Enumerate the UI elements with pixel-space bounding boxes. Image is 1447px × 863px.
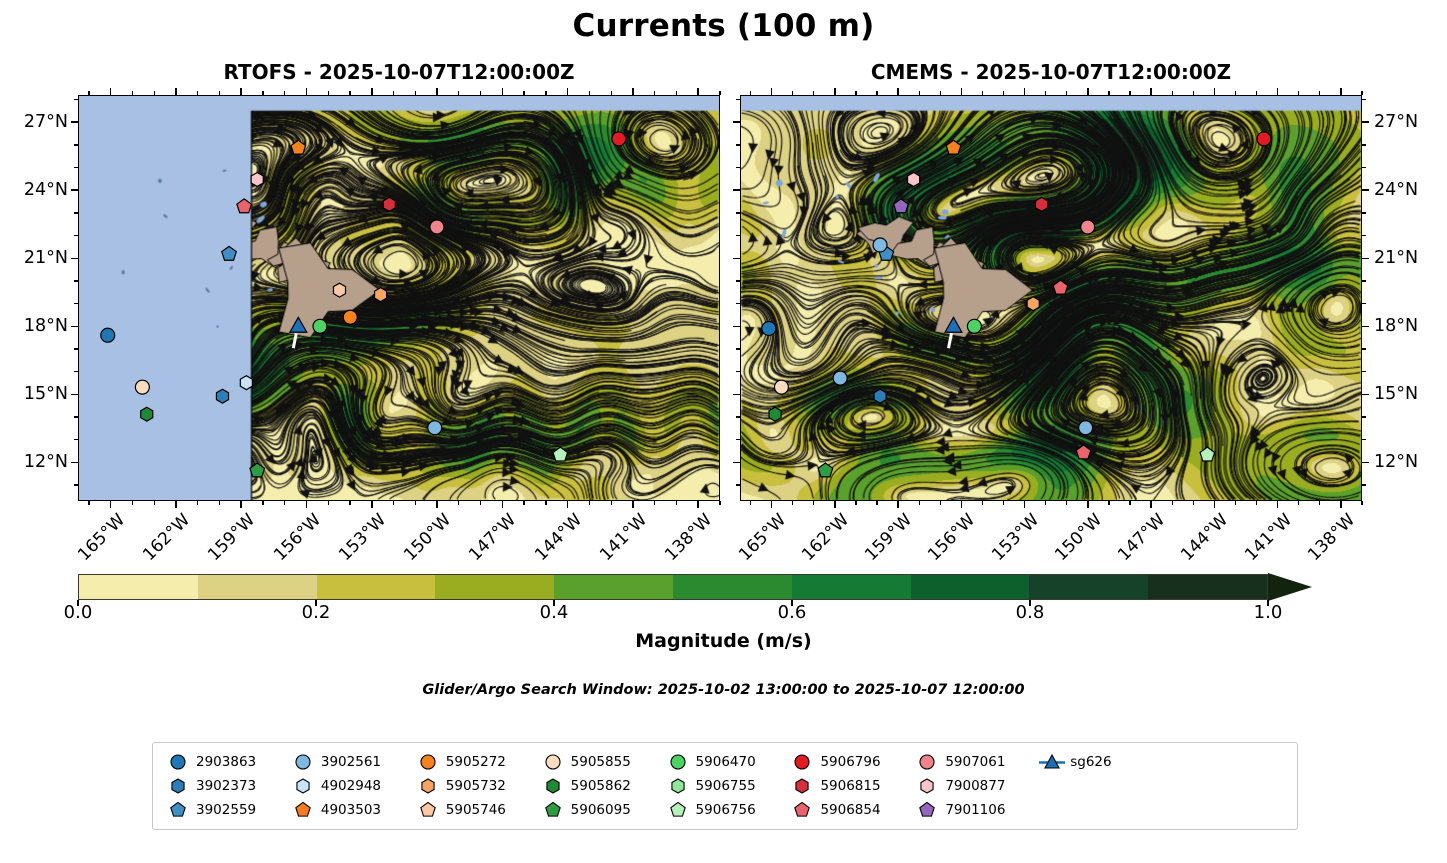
float-marker-3902559[interactable]	[222, 246, 237, 260]
legend-marker-hexagon-icon	[916, 777, 938, 795]
xtick-top-left-141	[632, 88, 634, 95]
panel-title-rtofs: RTOFS - 2025-10-07T12:00:00Z	[78, 60, 720, 84]
map-panel-cmems[interactable]	[740, 95, 1362, 501]
legend-item-5906095[interactable]: 5906095	[540, 800, 663, 820]
legend-item-5906756[interactable]: 5906756	[665, 800, 788, 820]
float-marker-7900877[interactable]	[908, 173, 920, 187]
float-marker-5906470[interactable]	[967, 319, 981, 333]
xtick-right-158	[919, 501, 920, 505]
xtick-left-162	[175, 501, 177, 508]
xtick-top-right-154	[1003, 91, 1004, 95]
xtick-top-left-165	[110, 88, 112, 95]
ytick-right-22	[736, 235, 740, 236]
xtick-top-left-153	[371, 88, 373, 95]
float-marker-5906796[interactable]	[1257, 132, 1271, 146]
xtick-right-166	[750, 501, 751, 505]
float-marker-sg626[interactable]	[290, 317, 307, 348]
float-marker-5906854b[interactable]	[1076, 445, 1091, 459]
xtick-top-left-164	[132, 91, 133, 95]
ytick-left-20	[74, 280, 78, 281]
ytick-left-28	[74, 99, 78, 100]
float-marker-5905272[interactable]	[946, 140, 961, 154]
legend-label-2903863: 2903863	[196, 754, 256, 770]
colorbar-axis-label: Magnitude (m/s)	[0, 630, 1447, 652]
xtick-top-right-147	[1150, 88, 1152, 95]
xtick-top-right-142	[1256, 91, 1257, 95]
legend-item-5906470[interactable]: 5906470	[665, 752, 788, 772]
float-marker-3902373[interactable]	[874, 389, 886, 403]
ytick-right-15	[733, 394, 740, 396]
xtick-top-left-162	[175, 88, 177, 95]
float-marker-3902561c[interactable]	[1079, 421, 1093, 435]
xtick-right-161	[855, 501, 856, 505]
colorbar-ticklabel-5: 1.0	[1254, 602, 1283, 623]
xtick-left-141	[632, 501, 634, 508]
xtick-left-161	[197, 501, 198, 505]
xtick-top-right-164	[792, 91, 793, 95]
xtick-top-right-158	[919, 91, 920, 95]
ytick-right-12	[733, 462, 740, 464]
ytick-left-27	[71, 121, 78, 123]
legend-item-7901106[interactable]: 7901106	[914, 800, 1037, 820]
float-marker-5906796[interactable]	[612, 132, 626, 146]
colorbar-band-1	[198, 575, 317, 599]
xtick-top-left-155	[328, 91, 329, 95]
xtick-left-154	[349, 501, 350, 505]
float-marker-4902948[interactable]	[240, 376, 252, 390]
xtick-right-137	[1361, 501, 1362, 505]
legend-label-sg626: sg626	[1070, 754, 1111, 770]
ytick-left-22	[74, 235, 78, 236]
xtick-top-right-140	[1298, 91, 1299, 95]
float-marker-7901106[interactable]	[894, 199, 909, 213]
xtick-top-right-155	[982, 91, 983, 95]
legend-item-5906796[interactable]: 5906796	[789, 752, 912, 772]
ytick-left-23	[74, 212, 78, 213]
ytick-right-outer-12	[1362, 462, 1369, 464]
xtick-left-153	[371, 501, 373, 508]
float-markers-rtofs[interactable]	[79, 96, 719, 500]
float-marker-5906815[interactable]	[383, 197, 395, 211]
xtick-left-163	[154, 501, 155, 505]
xtick-right-150	[1087, 501, 1089, 508]
xtick-top-left-152	[393, 91, 394, 95]
xtick-top-right-166	[750, 91, 751, 95]
float-marker-7900877[interactable]	[251, 173, 263, 187]
colorbar-ticklabel-2: 0.4	[540, 602, 569, 623]
colorbar-ticklabel-4: 0.8	[1016, 602, 1045, 623]
xtick-top-left-161	[197, 91, 198, 95]
xtick-right-153	[1024, 501, 1026, 508]
legend-marker-circle-icon	[417, 753, 439, 771]
xtick-left-152	[393, 501, 394, 505]
float-marker-5906095[interactable]	[250, 463, 265, 477]
xtick-top-right-156	[961, 88, 963, 95]
legend-item-3902373[interactable]: 3902373	[165, 776, 288, 796]
legend-spacer	[1164, 776, 1287, 796]
legend-label-4903503: 4903503	[321, 802, 381, 818]
xtick-top-left-166	[88, 91, 89, 95]
legend-item-5905732[interactable]: 5905732	[415, 776, 538, 796]
ytick-right-26	[736, 144, 740, 145]
legend-marker-pentagon-icon	[542, 801, 564, 819]
ytick-right-13	[736, 439, 740, 440]
legend-item-5905746[interactable]: 5905746	[415, 800, 538, 820]
xtick-right-164	[792, 501, 793, 505]
ylabel-right-12: 12°N	[1374, 452, 1418, 472]
xtick-left-149	[458, 501, 459, 505]
ytick-right-outer-27	[1362, 121, 1369, 123]
legend-label-5906756: 5906756	[696, 802, 756, 818]
ytick-right-outer-19	[1362, 303, 1366, 304]
xtick-left-166	[88, 501, 89, 505]
xtick-top-right-143	[1235, 91, 1236, 95]
xtick-top-left-154	[349, 91, 350, 95]
float-marker-5906815[interactable]	[1036, 197, 1048, 211]
float-marker-5907061[interactable]	[430, 220, 444, 234]
xtick-right-146	[1172, 501, 1173, 505]
legend-label-5906796: 5906796	[820, 754, 880, 770]
legend-item-5906755[interactable]: 5906755	[665, 776, 788, 796]
ytick-right-outer-28	[1362, 99, 1366, 100]
xtick-top-left-159	[240, 88, 242, 95]
xtick-top-left-139	[676, 91, 677, 95]
colorbar-band-6	[792, 575, 911, 599]
legend-marker-circle-icon	[292, 753, 314, 771]
colorbar-extend-arrow	[1268, 573, 1312, 601]
colorbar[interactable]	[78, 574, 1308, 600]
float-marker-5905272[interactable]	[291, 140, 306, 154]
legend-marker-hexagon-icon	[292, 777, 314, 795]
xtick-top-left-143	[589, 91, 590, 95]
ytick-left-21	[71, 258, 78, 260]
ytick-right-outer-11	[1362, 484, 1366, 485]
ylabel-left-24: 24°N	[0, 180, 68, 200]
float-marker-3902561[interactable]	[428, 421, 442, 435]
legend-marker-pentagon-icon	[791, 801, 813, 819]
float-marker-5905862[interactable]	[769, 407, 781, 421]
xtick-right-143	[1235, 501, 1236, 505]
xtick-right-159	[897, 501, 899, 508]
legend-label-7900877: 7900877	[945, 778, 1005, 794]
ytick-right-outer-23	[1362, 212, 1366, 213]
float-marker-2903863[interactable]	[762, 321, 776, 335]
xtick-top-right-162	[834, 88, 836, 95]
xtick-top-left-137	[719, 91, 720, 95]
ytick-left-26	[74, 144, 78, 145]
ylabel-left-12: 12°N	[0, 452, 68, 472]
xtick-right-145	[1193, 501, 1194, 505]
ytick-right-21	[733, 258, 740, 260]
float-marker-5907061[interactable]	[1081, 220, 1095, 234]
legend-marker-pentagon-icon	[292, 801, 314, 819]
xtick-right-154	[1003, 501, 1004, 505]
float-marker-2903863[interactable]	[101, 328, 115, 342]
xtick-right-140	[1298, 501, 1299, 505]
ytick-left-18	[71, 326, 78, 328]
float-marker-sg626[interactable]	[945, 317, 962, 348]
legend-item-5905862[interactable]: 5905862	[540, 776, 663, 796]
ytick-right-25	[736, 167, 740, 168]
xtick-top-right-159	[897, 88, 899, 95]
xtick-left-159	[240, 501, 242, 508]
xtick-top-left-148	[480, 91, 481, 95]
ylabel-right-18: 18°N	[1374, 316, 1418, 336]
xtick-top-right-163	[813, 91, 814, 95]
float-marker-5905855[interactable]	[774, 380, 788, 394]
legend-label-7901106: 7901106	[945, 802, 1005, 818]
ylabel-left-15: 15°N	[0, 384, 68, 404]
legend-marker-hexagon-icon	[542, 777, 564, 795]
colorbar-band-2	[317, 575, 436, 599]
legend-marker-circle-icon	[791, 753, 813, 771]
xtick-top-right-160	[876, 91, 877, 95]
legend-marker-pentagon-icon	[667, 801, 689, 819]
xtick-top-right-141	[1277, 88, 1279, 95]
float-marker-5906854[interactable]	[237, 199, 252, 213]
float-marker-5906756[interactable]	[553, 447, 568, 461]
legend-item-sg626[interactable]: sg626	[1039, 752, 1162, 772]
ytick-left-19	[74, 303, 78, 304]
ytick-right-20	[736, 280, 740, 281]
xtick-left-156	[306, 501, 308, 508]
colorbar-band-5	[673, 575, 792, 599]
xtick-left-165	[110, 501, 112, 508]
legend-item-5907061[interactable]: 5907061	[914, 752, 1037, 772]
float-marker-5906095[interactable]	[818, 463, 833, 477]
xtick-top-left-150	[436, 88, 438, 95]
xtick-right-151	[1066, 501, 1067, 505]
colorbar-band-8	[1029, 575, 1148, 599]
colorbar-ticklabel-0: 0.0	[64, 602, 93, 623]
float-marker-5906854[interactable]	[1053, 280, 1068, 294]
ytick-right-outer-15	[1362, 394, 1369, 396]
xtick-left-164	[132, 501, 133, 505]
legend-item-3902561[interactable]: 3902561	[290, 752, 413, 772]
legend-marker-hexagon-icon	[791, 777, 813, 795]
xtick-top-right-144	[1214, 88, 1216, 95]
xtick-left-150	[436, 501, 438, 508]
legend-label-5906095: 5906095	[571, 802, 631, 818]
xtick-top-left-160	[219, 91, 220, 95]
xtick-left-142	[611, 501, 612, 505]
legend-marker-pentagon-icon	[417, 801, 439, 819]
legend-label-5907061: 5907061	[945, 754, 1005, 770]
xtick-right-139	[1319, 501, 1320, 505]
xtick-left-138	[697, 501, 699, 508]
xtick-right-144	[1214, 501, 1216, 508]
ytick-right-outer-18	[1362, 326, 1369, 328]
ytick-right-11	[736, 484, 740, 485]
ylabel-left-21: 21°N	[0, 248, 68, 268]
legend-marker-hexagon-icon	[667, 777, 689, 795]
float-marker-5905862[interactable]	[141, 407, 153, 421]
xtick-top-left-144	[567, 88, 569, 95]
xtick-top-right-161	[855, 91, 856, 95]
colorbar-band-0	[79, 575, 198, 599]
ytick-right-outer-25	[1362, 167, 1366, 168]
legend-label-5906815: 5906815	[820, 778, 880, 794]
float-marker-5906470[interactable]	[313, 319, 327, 333]
xtick-top-left-142	[611, 91, 612, 95]
ytick-right-28	[736, 99, 740, 100]
legend-item-4903503[interactable]: 4903503	[290, 800, 413, 820]
ytick-left-24	[71, 189, 78, 191]
ytick-right-23	[736, 212, 740, 213]
xtick-top-right-148	[1129, 91, 1130, 95]
ytick-right-outer-16	[1362, 371, 1366, 372]
colorbar-ticklabel-1: 0.2	[302, 602, 331, 623]
float-marker-5905746[interactable]	[333, 283, 345, 297]
legend-item-5905272[interactable]: 5905272	[415, 752, 538, 772]
xtick-top-left-147	[502, 88, 504, 95]
xtick-top-right-138	[1340, 88, 1342, 95]
ytick-left-11	[74, 484, 78, 485]
xtick-top-right-137	[1361, 91, 1362, 95]
xtick-right-155	[982, 501, 983, 505]
xtick-top-right-165	[771, 88, 773, 95]
xtick-top-right-146	[1172, 91, 1173, 95]
ytick-right-outer-20	[1362, 280, 1366, 281]
legend-item-3902559[interactable]: 3902559	[165, 800, 288, 820]
legend-marker-triangle-icon	[1041, 753, 1063, 771]
xtick-top-right-139	[1319, 91, 1320, 95]
ylabel-left-27: 27°N	[0, 112, 68, 132]
xtick-right-148	[1129, 501, 1130, 505]
xtick-right-147	[1150, 501, 1152, 508]
ytick-right-14	[736, 416, 740, 417]
ytick-right-17	[736, 348, 740, 349]
ytick-left-15	[71, 394, 78, 396]
xtick-right-141	[1277, 501, 1279, 508]
colorbar-ticklabel-3: 0.6	[778, 602, 807, 623]
float-marker-5905732[interactable]	[1027, 297, 1039, 311]
legend-item-2903863[interactable]: 2903863	[165, 752, 288, 772]
ytick-right-outer-14	[1362, 416, 1366, 417]
legend-label-3902559: 3902559	[196, 802, 256, 818]
xtick-top-right-153	[1024, 88, 1026, 95]
legend-marker-circle-icon	[667, 753, 689, 771]
xtick-top-right-151	[1066, 91, 1067, 95]
ytick-left-17	[74, 348, 78, 349]
legend-spacer	[1039, 800, 1162, 820]
legend-label-5906854: 5906854	[820, 802, 880, 818]
xtick-right-163	[813, 501, 814, 505]
xtick-top-left-158	[262, 91, 263, 95]
float-marker-5905272b[interactable]	[343, 310, 357, 324]
xtick-top-left-140	[654, 91, 655, 95]
xtick-right-160	[876, 501, 877, 505]
legend-marker-pentagon-icon	[167, 801, 189, 819]
legend-label-5905746: 5905746	[446, 802, 506, 818]
legend-item-7900877[interactable]: 7900877	[914, 776, 1037, 796]
float-marker-5906756[interactable]	[1200, 447, 1215, 461]
float-legend[interactable]: 2903863390237339025593902561490294849035…	[152, 742, 1298, 830]
ytick-right-16	[736, 371, 740, 372]
legend-label-3902373: 3902373	[196, 778, 256, 794]
xtick-top-right-152	[1045, 91, 1046, 95]
ytick-left-13	[74, 439, 78, 440]
colorbar-band-4	[554, 575, 673, 599]
ytick-right-27	[733, 121, 740, 123]
legend-label-3902561: 3902561	[321, 754, 381, 770]
xtick-top-right-157	[940, 91, 941, 95]
colorbar-band-9	[1148, 575, 1267, 599]
xtick-left-160	[219, 501, 220, 505]
ytick-left-16	[74, 371, 78, 372]
xtick-left-157	[284, 501, 285, 505]
legend-label-5906470: 5906470	[696, 754, 756, 770]
ytick-right-outer-21	[1362, 258, 1369, 260]
legend-marker-pentagon-icon	[916, 801, 938, 819]
ytick-right-outer-26	[1362, 144, 1366, 145]
xtick-left-140	[654, 501, 655, 505]
ytick-left-14	[74, 416, 78, 417]
float-marker-5905732[interactable]	[375, 288, 387, 302]
map-panel-rtofs[interactable]	[78, 95, 720, 501]
xtick-right-152	[1045, 501, 1046, 505]
float-markers-cmems[interactable]	[741, 96, 1361, 500]
panel-title-cmems: CMEMS - 2025-10-07T12:00:00Z	[740, 60, 1362, 84]
float-marker-3902561[interactable]	[873, 238, 887, 252]
ytick-right-outer-13	[1362, 439, 1366, 440]
xtick-left-151	[415, 501, 416, 505]
legend-item-5906815[interactable]: 5906815	[789, 776, 912, 796]
xtick-left-137	[719, 501, 720, 505]
search-window-caption: Glider/Argo Search Window: 2025-10-02 13…	[0, 682, 1447, 698]
ylabel-right-27: 27°N	[1374, 112, 1418, 132]
xtick-top-left-146	[523, 91, 524, 95]
ytick-right-outer-24	[1362, 189, 1369, 191]
xtick-right-162	[834, 501, 836, 508]
xtick-left-146	[523, 501, 524, 505]
ylabel-right-15: 15°N	[1374, 384, 1418, 404]
xtick-left-144	[567, 501, 569, 508]
legend-grid: 2903863390237339025593902561490294849035…	[165, 752, 1287, 820]
ytick-right-24	[733, 189, 740, 191]
ytick-left-25	[74, 167, 78, 168]
legend-item-4902948[interactable]: 4902948	[290, 776, 413, 796]
float-marker-3902561b[interactable]	[833, 371, 847, 385]
xtick-left-158	[262, 501, 263, 505]
legend-marker-circle-icon	[167, 753, 189, 771]
xtick-right-142	[1256, 501, 1257, 505]
legend-spacer	[1164, 800, 1287, 820]
legend-item-5905855[interactable]: 5905855	[540, 752, 663, 772]
xtick-top-left-151	[415, 91, 416, 95]
float-marker-3902373[interactable]	[216, 389, 228, 403]
legend-spacer	[1039, 776, 1162, 796]
float-marker-5905855[interactable]	[135, 380, 149, 394]
xtick-left-147	[502, 501, 504, 508]
legend-label-5905862: 5905862	[571, 778, 631, 794]
xtick-left-145	[545, 501, 546, 505]
legend-marker-hexagon-icon	[417, 777, 439, 795]
legend-item-5906854[interactable]: 5906854	[789, 800, 912, 820]
ytick-left-12	[71, 462, 78, 464]
xtick-top-right-149	[1108, 91, 1109, 95]
xtick-left-143	[589, 501, 590, 505]
xtick-right-138	[1340, 501, 1342, 508]
legend-marker-hexagon-icon	[167, 777, 189, 795]
xtick-left-148	[480, 501, 481, 505]
legend-label-5906755: 5906755	[696, 778, 756, 794]
legend-spacer	[1164, 752, 1287, 772]
xtick-top-left-145	[545, 91, 546, 95]
xtick-top-right-150	[1087, 88, 1089, 95]
ytick-right-19	[736, 303, 740, 304]
xtick-top-left-149	[458, 91, 459, 95]
